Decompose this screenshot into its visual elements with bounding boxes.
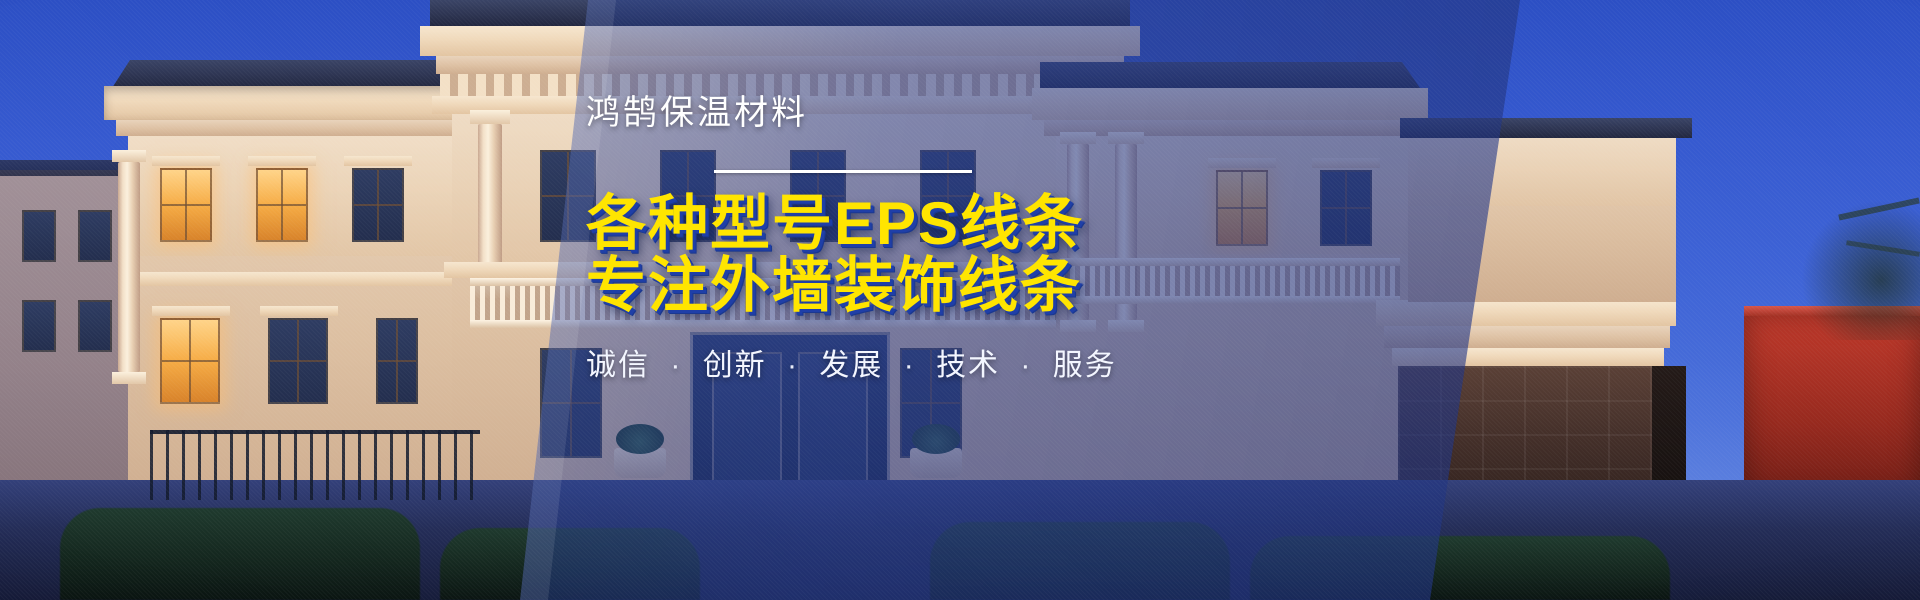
tagline-item-3: 技术 [936, 349, 1000, 382]
tagline-item-1: 创新 [703, 349, 767, 382]
tagline-separator-0: · [660, 349, 692, 382]
headline: 各种型号EPS线条 专注外墙装饰线条 [586, 193, 1346, 317]
tagline-separator-1: · [777, 349, 809, 382]
company-name: 鸿鹄保温材料 [586, 96, 1346, 130]
promo-banner: 鸿鹄保温材料 各种型号EPS线条 专注外墙装饰线条 诚信 · 创新 · 发展 ·… [0, 0, 1920, 600]
hedge-left [60, 508, 420, 600]
divider-rule [714, 170, 972, 173]
tagline-item-2: 发展 [819, 349, 883, 382]
headline-line-2: 专注外墙装饰线条 [586, 255, 1346, 317]
tagline-item-0: 诚信 [586, 349, 650, 382]
tagline-item-4: 服务 [1053, 349, 1117, 382]
tagline-separator-2: · [894, 349, 926, 382]
headline-line-1: 各种型号EPS线条 [586, 193, 1346, 255]
tagline-separator-3: · [1010, 349, 1042, 382]
tagline: 诚信 · 创新 · 发展 · 技术 · 服务 [586, 351, 1346, 381]
banner-copy: 鸿鹄保温材料 各种型号EPS线条 专注外墙装饰线条 诚信 · 创新 · 发展 ·… [586, 96, 1346, 381]
